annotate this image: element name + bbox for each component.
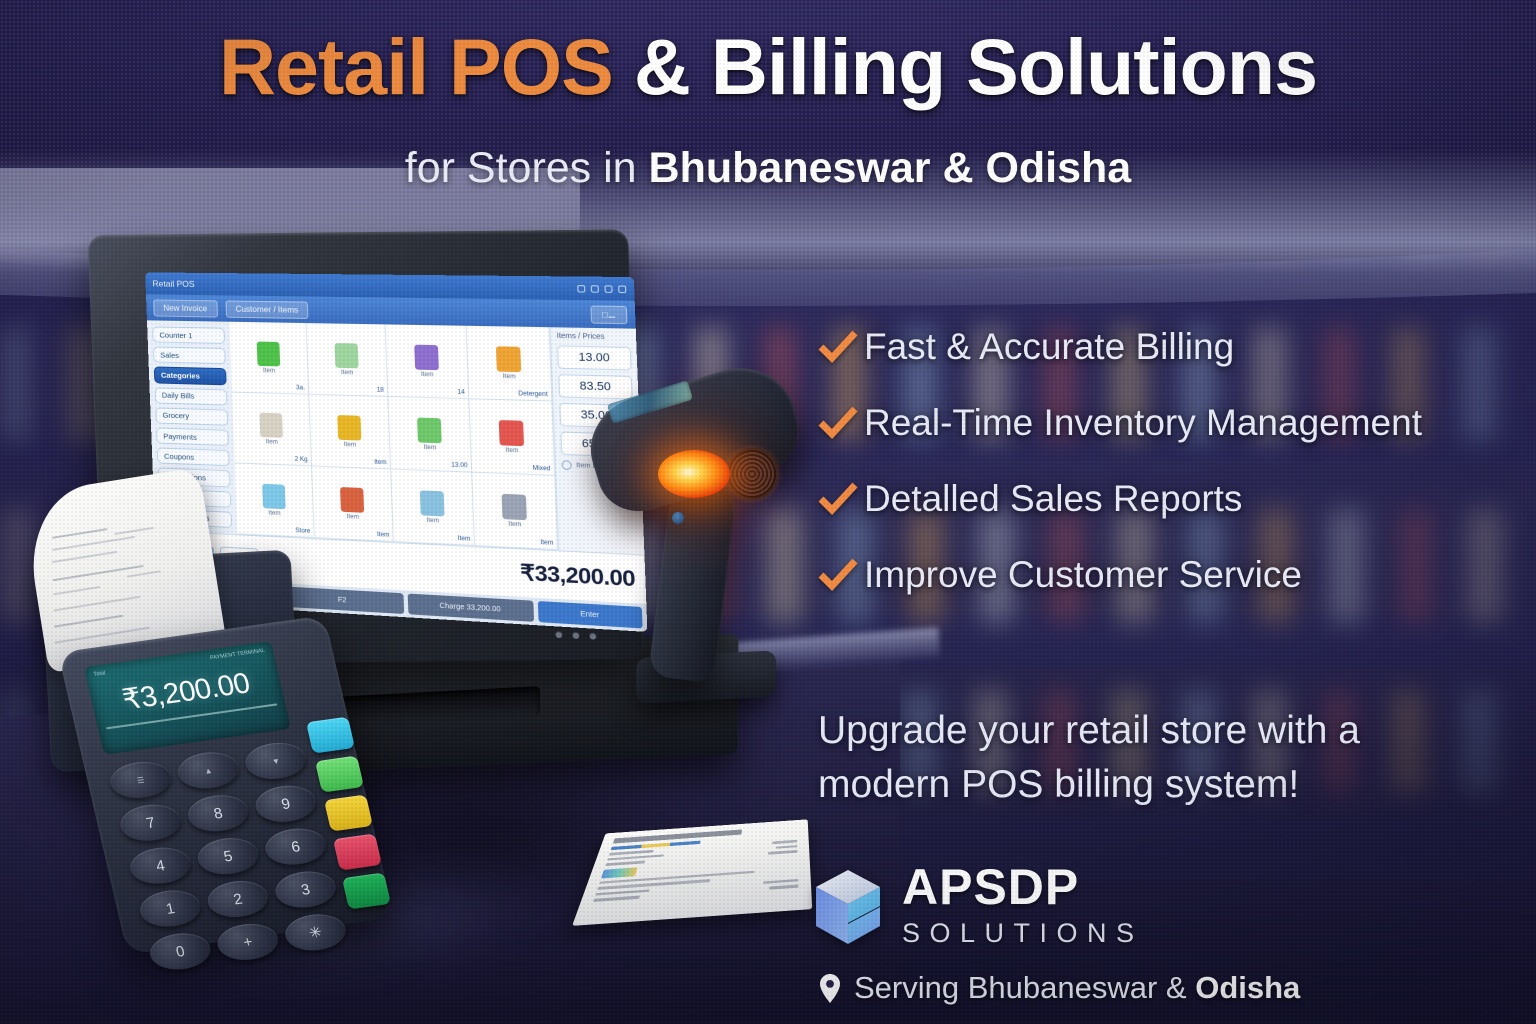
key-3[interactable]: 3 [272,868,340,911]
receipt-text-line [776,845,797,849]
feature-label: Fast & Accurate Billing [864,326,1234,368]
page-subtitle: for Stores in Bhubaneswar & Odisha [0,144,1536,193]
product-name: Item [508,521,521,528]
product-name: Item [424,444,437,451]
maximize-icon[interactable] [591,285,599,293]
minimize-icon[interactable] [577,285,585,293]
product-qty: Item [374,460,387,467]
tab-customer-items[interactable]: Customer / Items [225,300,309,319]
product-thumb [496,346,521,372]
product-thumb [420,490,445,516]
footer-button-f2[interactable]: F2 [282,586,404,614]
product-cell[interactable]: ItemItem [391,470,475,547]
product-thumb [414,344,439,370]
feature-label: Detalled Sales Reports [864,478,1242,520]
product-cell[interactable]: Item18 [307,323,389,397]
brand-logo: APSDP SOLUTIONS [812,862,1144,951]
product-name: Item [346,514,359,521]
key-4[interactable]: 4 [127,844,195,887]
product-cell[interactable]: ItemItem [312,466,394,542]
product-thumb [259,412,283,437]
page-title: Retail POS & Billing Solutions [0,26,1536,109]
toolbar-window-button[interactable]: □⚊ [590,305,627,324]
window-controls[interactable] [577,285,626,293]
receipt-text-line [605,861,645,866]
key-9[interactable]: 9 [252,782,320,825]
promo-banner: Retail POS New Invoice Customer / Items … [0,0,1536,1024]
terminal-screen-brand: PAYMENT TERMINAL [210,648,266,662]
key-2[interactable]: 2 [204,877,272,920]
product-cell[interactable]: Item3a. [229,322,309,395]
function-key-green[interactable] [315,756,364,793]
receipt-text-line [772,840,797,844]
check-icon [818,330,864,364]
serving-area-note: Serving Bhubaneswar & Odisha [818,970,1300,1006]
function-key-yellow[interactable] [324,795,373,832]
check-icon [818,482,864,516]
product-cell[interactable]: ItemItem [472,473,558,551]
cta-text: Upgrade your retail store with a modern … [818,704,1478,812]
pos-body: Counter 1 Sales Categories Daily Bills G… [147,320,644,554]
feature-label: Improve Customer Service [864,554,1302,596]
barcode-scanner [576,372,836,712]
function-key-cyan[interactable] [306,717,355,754]
restore-icon[interactable] [604,285,612,293]
feature-item-service: Improve Customer Service [818,550,1518,600]
subtitle-location: Bhubaneswar & Odisha [649,144,1132,192]
product-qty: 2 Kg [295,457,308,464]
key-menu[interactable]: ☰ [107,758,175,801]
brand-name: APSDP [902,862,1144,912]
product-thumb [502,493,527,519]
product-name: Item [344,441,357,448]
terminal-screen-label: Total [93,670,106,677]
cta-line-2: modern POS billing system! [818,758,1478,812]
product-cell[interactable]: Item2 Kg [232,393,312,467]
product-qty: Item [458,536,471,543]
sidebar-item-sales[interactable]: Sales [153,347,226,365]
line-amount: 13.00 [557,345,632,370]
product-thumb [340,487,364,513]
check-icon [818,558,864,592]
product-thumb [262,483,286,508]
close-icon[interactable] [618,285,626,293]
cube-logo-icon [812,868,884,946]
product-cell[interactable]: Item14 [386,324,470,399]
key-8[interactable]: 8 [184,792,252,835]
tab-new-invoice[interactable]: New Invoice [153,299,217,317]
receipt-text-line [763,879,798,884]
product-thumb [257,341,281,366]
feature-item-inventory: Real-Time Inventory Management [818,398,1518,448]
product-qty: Store [295,528,310,535]
sidebar-item-daily-bills[interactable]: Daily Bills [154,387,227,405]
product-qty: Detergent [518,391,548,398]
product-name: Item [268,510,280,517]
feature-list: Fast & Accurate Billing Real-Time Invent… [818,322,1518,626]
radio-circle-icon [561,460,571,470]
key-up[interactable]: ▲ [174,749,242,792]
receipt-text-line [769,884,798,889]
product-qty: Mixed [533,465,551,472]
product-cell[interactable]: ItemMixed [469,399,555,476]
function-key-enter[interactable] [342,872,391,909]
sidebar-item-counter1[interactable]: Counter 1 [152,326,225,344]
product-qty: 3a. [296,385,305,391]
product-thumb [334,343,358,368]
key-1[interactable]: 1 [136,887,204,930]
headline-rest: & Billing Solutions [613,22,1317,111]
brand-wordmark: APSDP SOLUTIONS [902,862,1144,951]
product-qty: 13.00 [451,462,468,469]
receipt-text-line [593,896,640,902]
location-pin-icon [818,973,842,1004]
receipt-logo [601,867,638,878]
product-thumb [499,420,524,446]
key-7[interactable]: 7 [117,801,185,844]
feature-item-reports: Detalled Sales Reports [818,474,1518,524]
product-cell[interactable]: ItemItem [309,395,391,470]
product-qty: 14 [457,389,465,395]
feature-label: Real-Time Inventory Management [864,402,1422,444]
toolbar-spacer [317,310,582,314]
led-icon [555,631,562,638]
sidebar-item-coupons[interactable]: Coupons [157,448,230,467]
subtitle-prefix: for Stores in [405,144,649,192]
product-name: Item [505,447,518,454]
product-cell[interactable]: ItemDetergent [467,326,553,402]
product-name: Item [421,371,434,378]
product-thumb [337,415,361,440]
scanner-laser-glow [658,450,730,498]
sidebar-item-categories[interactable]: Categories [154,367,227,385]
product-name: Item [263,368,275,374]
serving-state: Odisha [1195,970,1300,1005]
key-5[interactable]: 5 [194,834,262,877]
sidebar-item-grocery[interactable]: Grocery [155,407,228,426]
product-thumb [417,417,442,443]
product-qty: 18 [377,387,384,393]
receipt-text-line [768,850,797,854]
product-cell[interactable]: Item13.00 [388,397,472,473]
product-qty: Item [377,532,390,539]
serving-text: Serving Bhubaneswar & Odisha [854,970,1300,1006]
pos-window-title: Retail POS [152,278,194,289]
product-name: Item [341,369,354,375]
key-down[interactable]: ▼ [242,739,310,782]
cta-line-1: Upgrade your retail store with a [818,704,1478,758]
key-6[interactable]: 6 [262,825,330,868]
product-name: Item [426,517,439,524]
product-grid: Item3a. Item18 Item14 ItemDetergent Item… [229,322,558,550]
check-icon [818,406,864,440]
brand-tagline: SOLUTIONS [902,915,1144,951]
headline-accent: Retail POS [219,22,613,111]
serving-prefix: Serving Bhubaneswar & [854,970,1195,1005]
feature-item-billing: Fast & Accurate Billing [818,322,1518,372]
product-qty: Item [540,540,553,547]
footer-button-charge[interactable]: Charge 33,200.00 [407,593,534,621]
amount-panel-header: Items / Prices [556,333,630,342]
function-key-red[interactable] [333,834,382,871]
sidebar-item-payments[interactable]: Payments [156,427,229,446]
product-name: Item [266,439,278,446]
product-cell[interactable]: ItemStore [235,463,315,538]
printed-receipt [572,819,812,926]
product-name: Item [503,373,516,380]
